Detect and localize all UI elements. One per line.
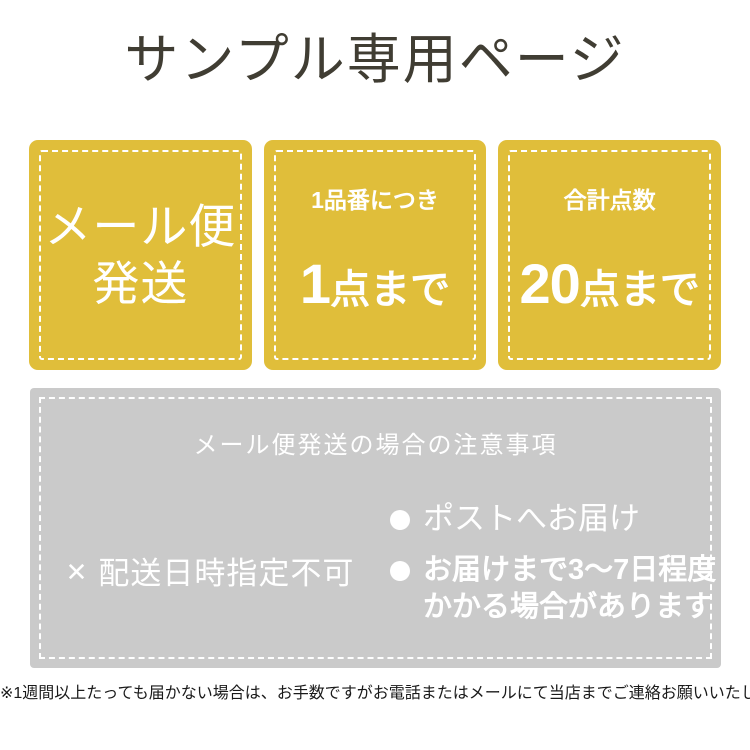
card-shipping-method-line2: 発送 — [29, 255, 252, 312]
card-total-limit: 合計点数 20点まで — [498, 140, 721, 370]
card-per-item-limit-value: 1点まで — [264, 258, 487, 325]
bullet-text-delivery-time-block: お届けまで3〜7日程度 かかる場合があります — [423, 552, 716, 626]
list-item: お届けまで3〜7日程度 かかる場合があります — [390, 552, 721, 626]
card-per-item-limit-unit: 点まで — [330, 268, 450, 312]
card-total-limit-content: 合計点数 20点まで — [498, 186, 721, 325]
card-total-limit-caption: 合計点数 — [498, 186, 721, 214]
bullet-text-delivery-to-post: ポストへお届け — [423, 500, 640, 538]
cross-icon: ✕ — [66, 553, 89, 591]
page-title: サンプル専用ページ — [0, 26, 750, 94]
card-shipping-method-line1: メール便 — [29, 198, 252, 255]
notice-bullet-list: ポストへお届け お届けまで3〜7日程度 かかる場合があります — [390, 498, 721, 640]
notice-body: ✕配送日時指定不可 ポストへお届け お届けまで3〜7日程度 かかる場合があります — [30, 498, 721, 648]
no-date-designation-label: 配送日時指定不可 — [98, 556, 354, 591]
card-total-limit-number: 20 — [520, 252, 580, 315]
bullet-text-delivery-time-line1: お届けまで3〜7日程度 — [423, 552, 716, 589]
bullet-dot-icon — [390, 561, 410, 581]
notice-panel: メール便発送の場合の注意事項 ✕配送日時指定不可 ポストへお届け お届けまで3〜… — [30, 388, 721, 668]
card-shipping-method-content: メール便 発送 — [29, 198, 252, 312]
bullet-text-delivery-time-line2: かかる場合があります — [423, 589, 716, 626]
card-per-item-limit-content: 1品番につき 1点まで — [264, 186, 487, 325]
footer-note: ※1週間以上たっても届かない場合は、お手数ですがお電話またはメールにて当店までご… — [0, 683, 750, 705]
card-total-limit-unit: 点まで — [580, 268, 700, 312]
notice-heading: メール便発送の場合の注意事項 — [30, 431, 721, 461]
card-total-limit-value: 20点まで — [498, 258, 721, 325]
notice-left-column: ✕配送日時指定不可 — [30, 498, 390, 648]
bullet-dot-icon — [390, 510, 410, 530]
list-item: ポストへお届け — [390, 500, 721, 538]
no-date-designation-item: ✕配送日時指定不可 — [66, 553, 355, 593]
card-per-item-limit-caption: 1品番につき — [264, 186, 487, 214]
card-shipping-method: メール便 発送 — [29, 140, 252, 370]
card-per-item-limit: 1品番につき 1点まで — [264, 140, 487, 370]
card-per-item-limit-number: 1 — [300, 252, 330, 315]
highlight-cards-row: メール便 発送 1品番につき 1点まで 合計点数 20点まで — [29, 140, 721, 370]
